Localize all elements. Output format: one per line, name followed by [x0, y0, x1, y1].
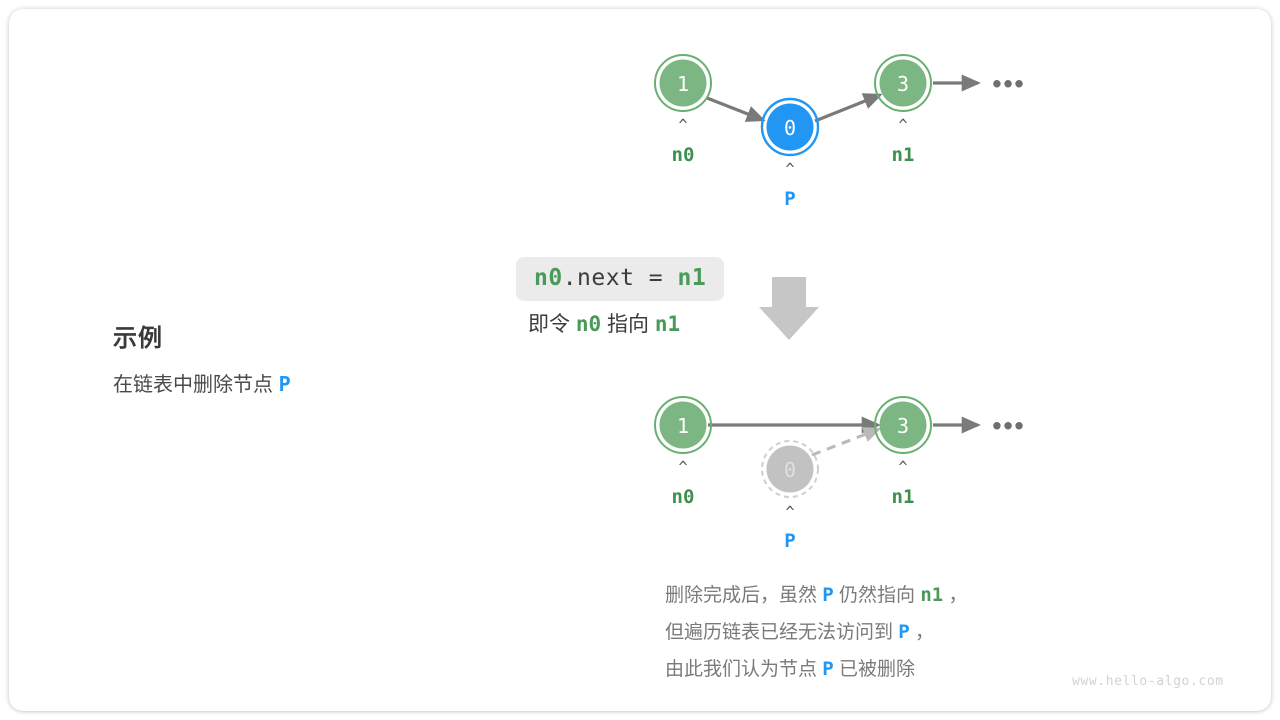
bc1-token-p: P [822, 584, 833, 606]
ellipsis-icon-bottom: ••• [992, 411, 1025, 442]
code-token-n0: n0 [534, 265, 563, 291]
node-value-n0-bottom: 1 [677, 414, 689, 438]
node-label-p-top: P [784, 188, 795, 210]
node-value-n1-bottom: 3 [897, 414, 909, 438]
caret-p-top: ^ [785, 160, 794, 178]
caret-n0-bottom: ^ [678, 458, 687, 476]
bc1-c: ， [949, 585, 968, 606]
subtitle-token-p: P [279, 372, 291, 396]
bc1-b: 仍然指向 [839, 585, 915, 606]
watermark: www.hello-algo.com [1072, 674, 1224, 689]
node-label-p-bottom: P [784, 530, 795, 552]
node-value-n0-top: 1 [677, 72, 689, 96]
caret-n1-top: ^ [898, 116, 907, 134]
bottom-caption-line-2: 但遍历链表已经无法访问到 P ， [665, 614, 968, 651]
bc3-a: 由此我们认为节点 [665, 659, 817, 680]
slide-card [9, 9, 1271, 711]
page-title: 示例 [113, 318, 163, 353]
caret-n0-top: ^ [678, 116, 687, 134]
mid-caption-token-n0: n0 [576, 312, 601, 336]
page-subtitle: 在链表中删除节点 P [113, 368, 291, 397]
node-value-p-bottom: 0 [784, 458, 796, 482]
bc2-token-p: P [898, 621, 909, 643]
node-label-n1-top: n1 [892, 144, 915, 166]
bc2-b: ， [915, 622, 934, 643]
code-token-n1: n1 [678, 265, 707, 291]
caret-p-bottom: ^ [785, 503, 794, 521]
bc1-a: 删除完成后，虽然 [665, 585, 817, 606]
code-equals: = [634, 265, 677, 291]
code-dot-next: .next [563, 265, 635, 291]
mid-caption: 即令 n0 指向 n1 [528, 308, 680, 338]
node-value-p-top: 0 [784, 116, 796, 140]
mid-caption-prefix: 即令 [528, 313, 570, 336]
node-label-n0-bottom: n0 [672, 486, 695, 508]
bc3-token-p: P [822, 658, 833, 680]
mid-caption-middle: 指向 [607, 313, 649, 336]
node-label-n0-top: n0 [672, 144, 695, 166]
node-value-n1-top: 3 [897, 72, 909, 96]
node-label-n1-bottom: n1 [892, 486, 915, 508]
ellipsis-icon-top: ••• [992, 69, 1025, 100]
bottom-caption-line-1: 删除完成后，虽然 P 仍然指向 n1 ， [665, 577, 968, 614]
bottom-caption-line-3: 由此我们认为节点 P 已被删除 [665, 651, 968, 688]
mid-caption-token-n1: n1 [655, 312, 680, 336]
bc2-a: 但遍历链表已经无法访问到 [665, 622, 893, 643]
subtitle-text: 在链表中删除节点 [113, 374, 273, 396]
bottom-caption: 删除完成后，虽然 P 仍然指向 n1 ， 但遍历链表已经无法访问到 P ， 由此… [665, 577, 968, 688]
bc1-token-n1: n1 [920, 584, 943, 606]
caret-n1-bottom: ^ [898, 458, 907, 476]
bc3-b: 已被删除 [839, 659, 915, 680]
code-snippet: n0.next = n1 [516, 257, 724, 301]
